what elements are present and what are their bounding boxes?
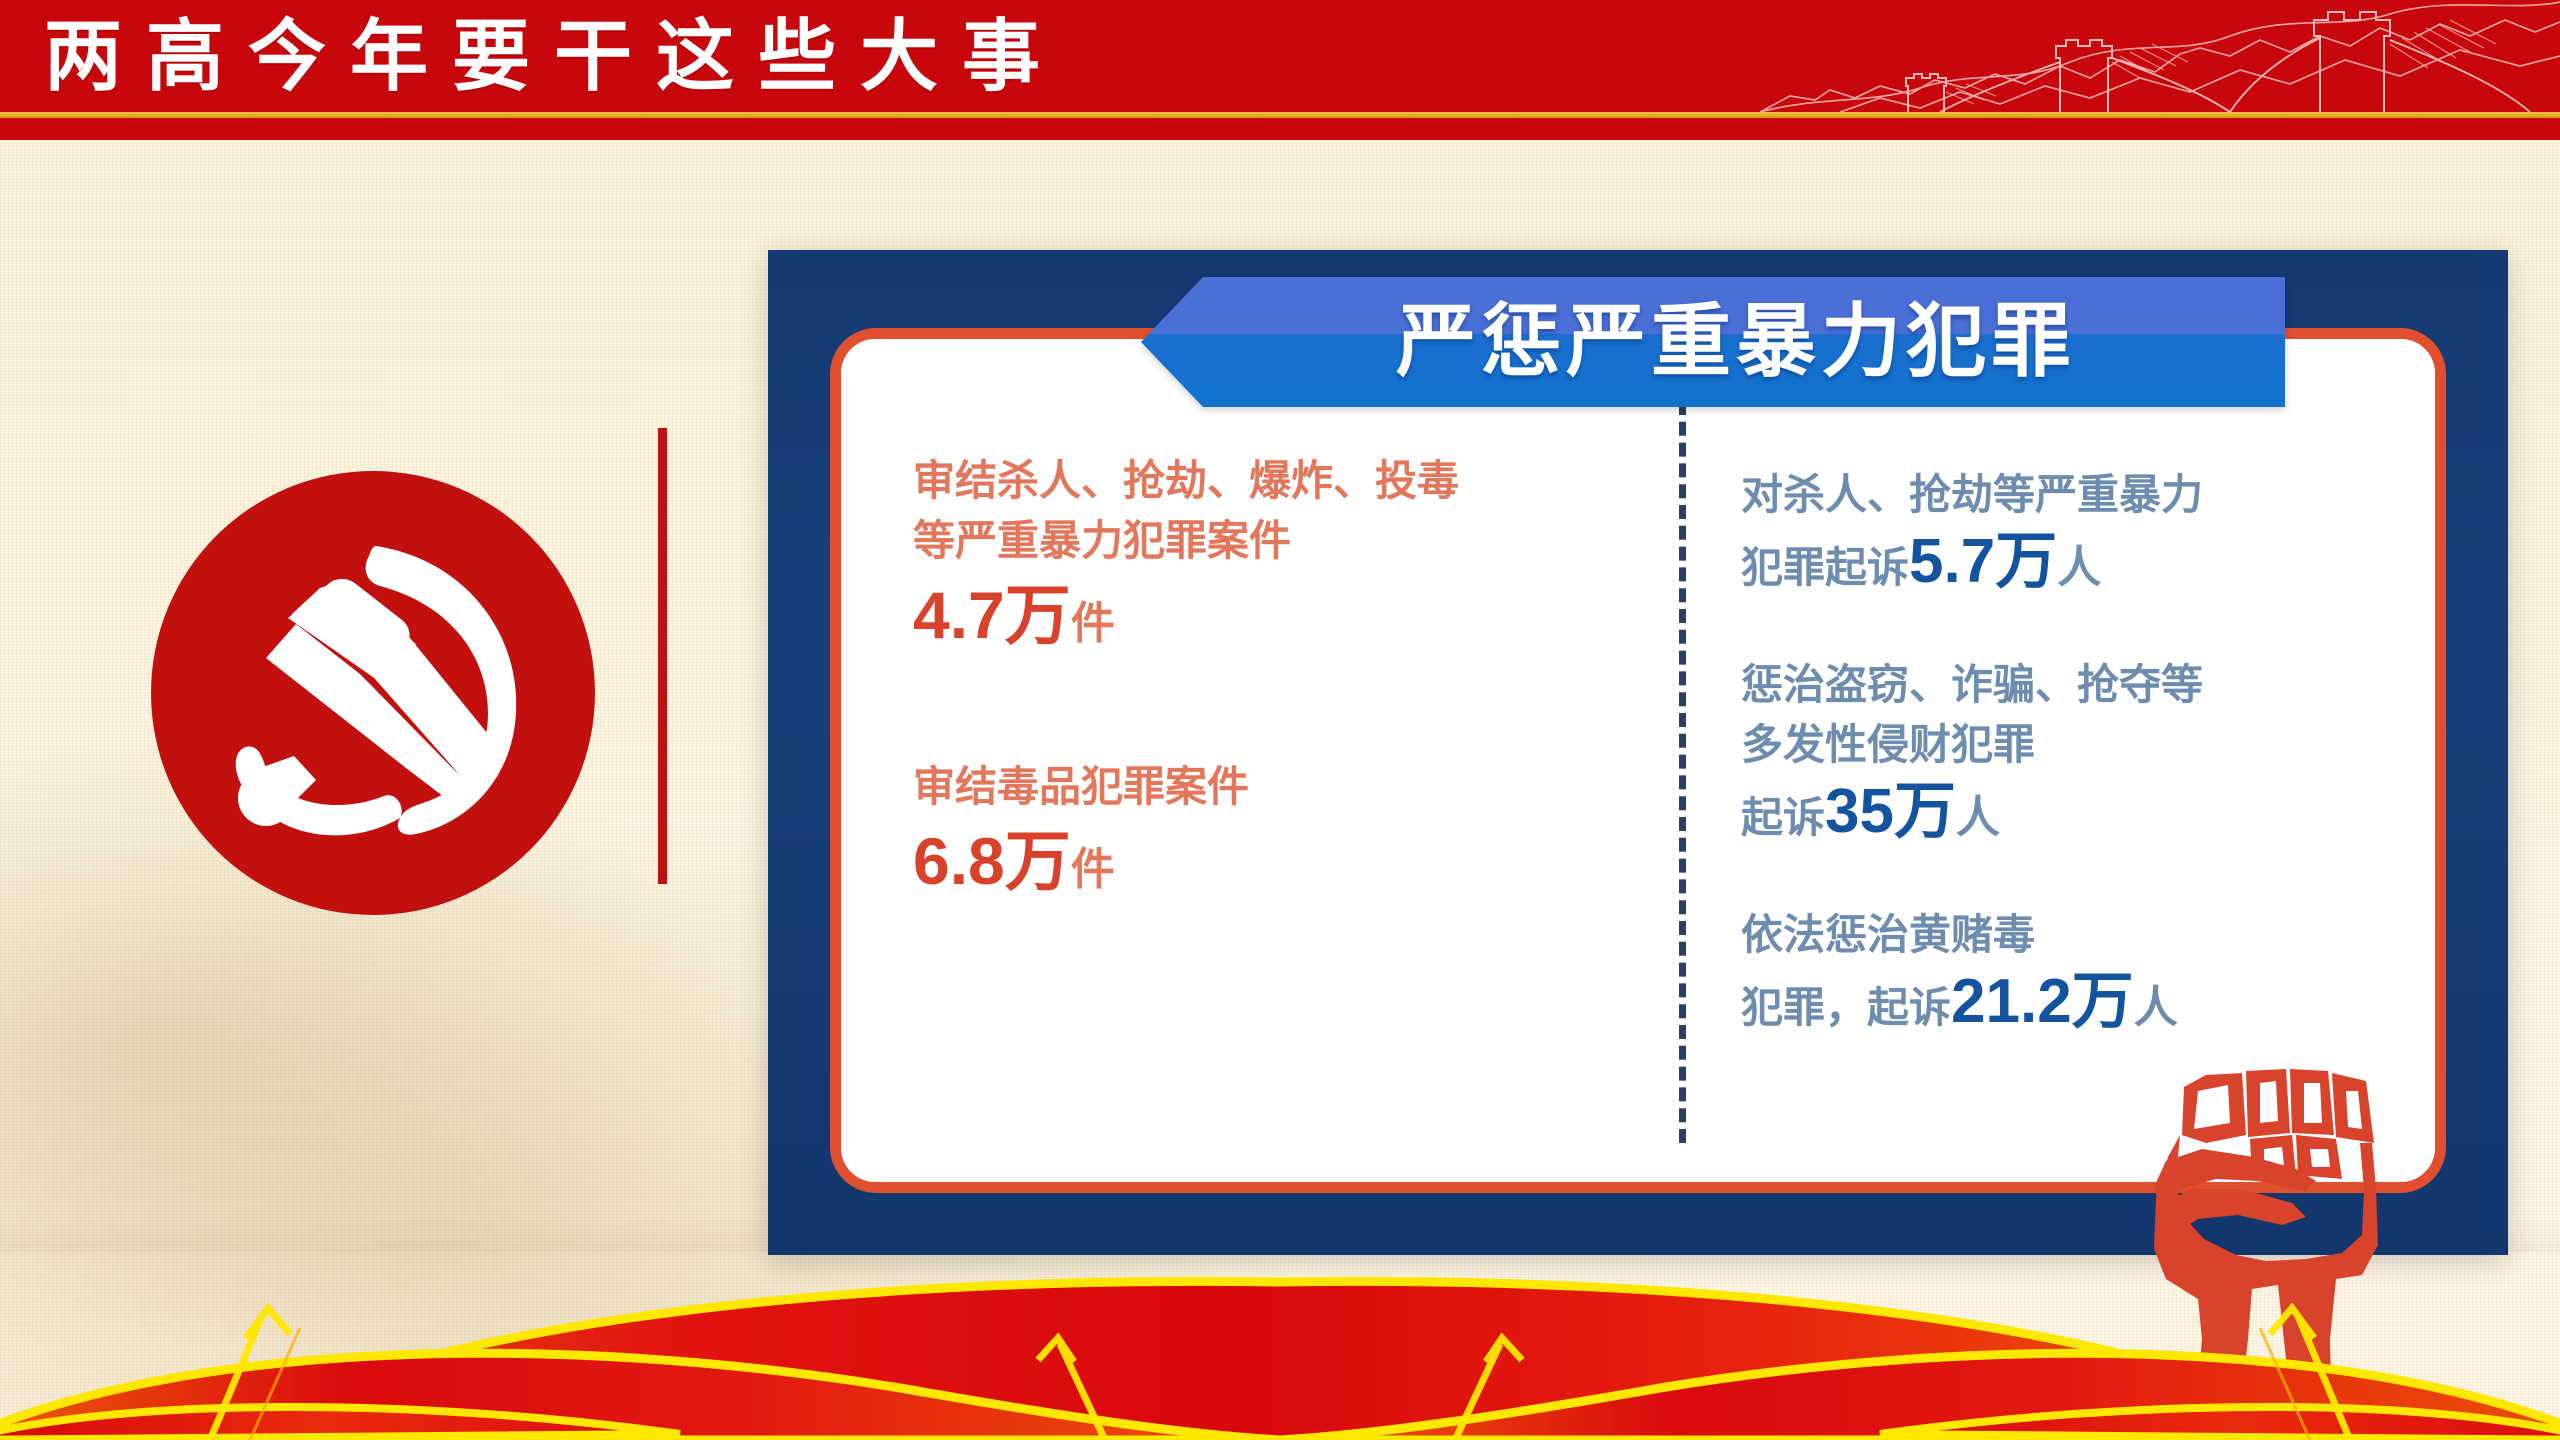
- right-stats-column: 对杀人、抢劫等严重暴力 犯罪起诉5.7万人 惩治盗窃、诈骗、抢夺等 多发性侵财犯…: [1741, 465, 2431, 1039]
- header-lower-red-strip: [0, 118, 2560, 140]
- stat-block: 审结杀人、抢劫、爆炸、投毒 等严重暴力犯罪案件 4.7万件: [913, 451, 1633, 653]
- stat-block: 惩治盗窃、诈骗、抢夺等 多发性侵财犯罪 起诉35万人: [1741, 655, 2431, 849]
- stat-line: 等严重暴力犯罪案件: [913, 511, 1633, 571]
- infographic-card: 严惩严重暴力犯罪: [830, 328, 2446, 1193]
- stat-block: 审结毒品犯罪案件 6.8万件: [913, 757, 1633, 899]
- great-wall-icon: [1760, 0, 2560, 112]
- stat-prefix: 犯罪，起诉: [1741, 983, 1951, 1032]
- stat-value-row: 4.7万件: [913, 577, 1633, 653]
- infographic-card-surface: 严惩严重暴力犯罪: [841, 339, 2435, 1182]
- stat-value-row: 起诉35万人: [1741, 775, 2431, 849]
- header-bar: 两高今年要干这些大事: [0, 0, 2560, 112]
- stat-line: 依法惩治黄赌毒: [1741, 905, 2431, 965]
- page-title: 两高今年要干这些大事: [44, 18, 1064, 96]
- infographic-panel: 严惩严重暴力犯罪: [768, 250, 2508, 1255]
- stat-unit: 件: [1071, 599, 1115, 648]
- banner-title: 严惩严重暴力犯罪: [1141, 277, 2285, 407]
- vertical-dashed-divider: [1679, 401, 1686, 1143]
- stat-line: 对杀人、抢劫等严重暴力: [1741, 465, 2431, 525]
- stat-line: 审结杀人、抢劫、爆炸、投毒: [913, 451, 1633, 511]
- stat-block: 依法惩治黄赌毒 犯罪，起诉21.2万人: [1741, 905, 2431, 1039]
- stat-unit: 人: [2057, 543, 2101, 592]
- stat-value: 4.7万: [913, 578, 1071, 652]
- left-stats-column: 审结杀人、抢劫、爆炸、投毒 等严重暴力犯罪案件 4.7万件 审结毒品犯罪案件 6…: [913, 451, 1633, 899]
- stat-value-row: 6.8万件: [913, 823, 1633, 899]
- stat-prefix: 犯罪起诉: [1741, 543, 1909, 592]
- slide-canvas: 两高今年要干这些大事: [0, 0, 2560, 1440]
- stat-unit: 件: [1071, 845, 1115, 894]
- stat-unit: 人: [1956, 793, 2000, 842]
- stat-value-row: 犯罪起诉5.7万人: [1741, 525, 2431, 599]
- stat-unit: 人: [2134, 983, 2178, 1032]
- stat-line: 多发性侵财犯罪: [1741, 715, 2431, 775]
- stat-line: 审结毒品犯罪案件: [913, 757, 1633, 817]
- stat-line: 惩治盗窃、诈骗、抢夺等: [1741, 655, 2431, 715]
- stat-prefix: 起诉: [1741, 793, 1825, 842]
- stat-value: 21.2万: [1951, 967, 2134, 1036]
- stat-value: 35万: [1825, 777, 1956, 846]
- stat-value: 6.8万: [913, 824, 1071, 898]
- cpc-hammer-sickle-emblem: [148, 468, 598, 918]
- red-silk-ribbon-decoration: [0, 1220, 2560, 1440]
- vertical-red-divider: [658, 428, 667, 884]
- stat-value: 5.7万: [1909, 527, 2057, 596]
- stat-block: 对杀人、抢劫等严重暴力 犯罪起诉5.7万人: [1741, 465, 2431, 599]
- banner-ribbon: 严惩严重暴力犯罪: [1141, 277, 2285, 407]
- stat-value-row: 犯罪，起诉21.2万人: [1741, 965, 2431, 1039]
